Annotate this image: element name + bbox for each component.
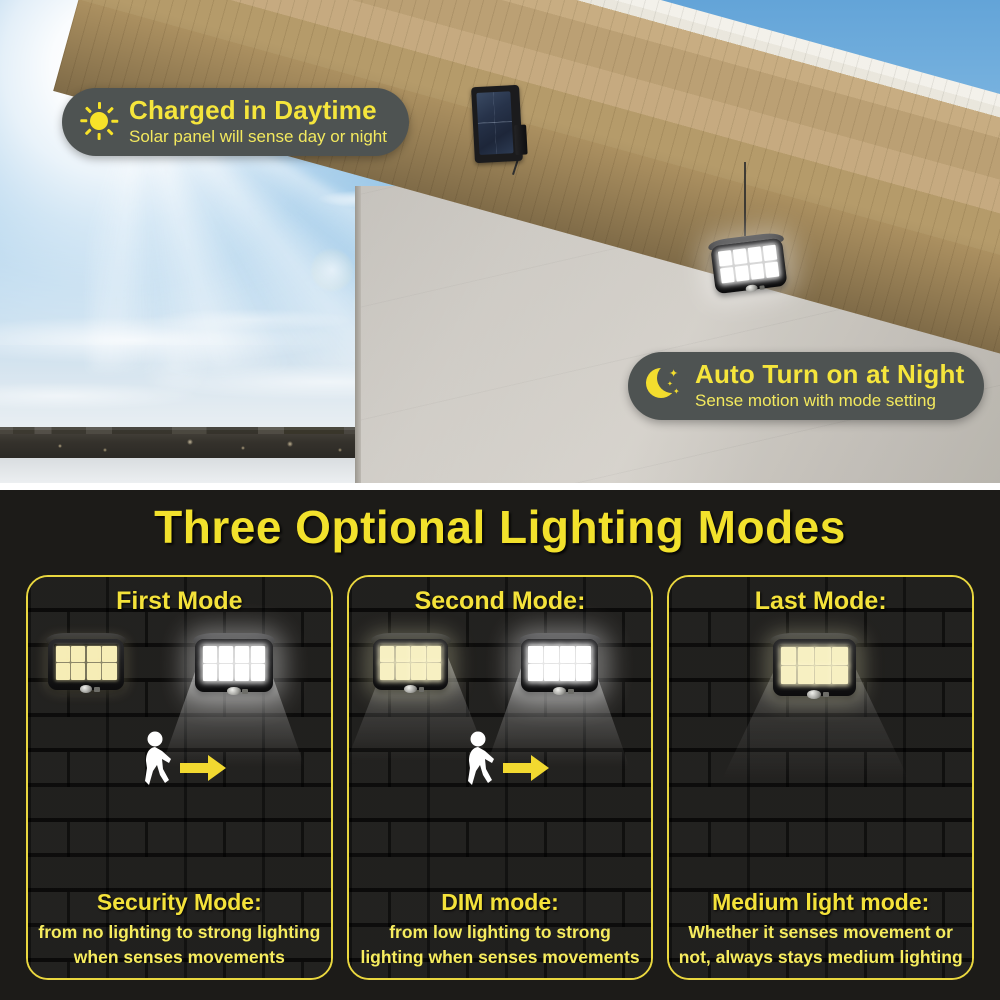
led-cell — [396, 646, 410, 662]
star-icon: ✦ — [673, 388, 680, 396]
mode-description: from low lighting to strong lighting whe… — [357, 920, 644, 970]
motion-sensor-icon — [807, 690, 821, 699]
led-cell — [56, 663, 70, 679]
mode-name: Security Mode: — [36, 889, 323, 916]
sun-ray — [111, 120, 118, 123]
mode-name: Medium light mode: — [677, 889, 964, 916]
moon-icon: ✦ ✦ ✦ — [644, 365, 684, 405]
mode-card-footer: Medium light mode: Whether it senses mov… — [669, 889, 972, 970]
led-cell — [544, 646, 559, 663]
sun-ray — [107, 129, 114, 136]
led-cell — [102, 663, 116, 679]
building-wall-edge — [355, 186, 361, 483]
led-cell — [798, 666, 814, 684]
lamp-button — [759, 285, 765, 290]
solar-panel — [471, 85, 523, 163]
lamp-led-grid — [54, 644, 118, 681]
section-title: Three Optional Lighting Modes — [0, 500, 1000, 554]
badge-title: Auto Turn on at Night — [695, 361, 964, 389]
led-cell — [56, 646, 70, 662]
led-cell — [798, 647, 814, 665]
walking-person-icon — [136, 731, 176, 789]
led-cell — [781, 666, 797, 684]
mode-name: DIM mode: — [357, 889, 644, 916]
badge-text: Auto Turn on at Night Sense motion with … — [695, 361, 964, 410]
led-cell — [544, 664, 559, 681]
section-divider — [0, 483, 1000, 490]
led-cell — [203, 646, 218, 663]
sun-ray — [80, 120, 87, 123]
motion-sensor-icon — [745, 284, 758, 293]
led-cell — [749, 263, 764, 280]
badge-subtitle: Solar panel will sense day or night — [129, 128, 387, 146]
wall-mounted-led-light — [708, 232, 791, 303]
sun-ray — [85, 107, 92, 114]
led-cell — [71, 663, 85, 679]
led-cell — [576, 646, 591, 663]
led-cell — [560, 646, 575, 663]
sun-icon — [80, 102, 118, 140]
led-cell — [733, 248, 748, 265]
led-cell — [560, 664, 575, 681]
direction-arrow-icon — [503, 755, 549, 781]
led-lamp-right — [193, 633, 275, 701]
sun-core — [90, 112, 108, 130]
led-cell — [251, 646, 266, 663]
led-cell — [219, 646, 234, 663]
led-light-cable — [744, 162, 746, 236]
sun-ray — [98, 133, 101, 140]
led-lamp-right — [519, 633, 601, 701]
lamp-button — [419, 687, 425, 692]
led-cell — [427, 663, 441, 679]
mode-description: Whether it senses movement or not, alway… — [677, 920, 964, 970]
led-cell — [102, 646, 116, 662]
mode-card-illustration — [349, 623, 652, 823]
modes-section: Three Optional Lighting Modes First Mode — [0, 490, 1000, 1000]
mode-card-title: Second Mode: — [349, 587, 652, 616]
solar-panel-cells — [476, 91, 513, 155]
led-cell — [832, 666, 848, 684]
motion-sensor-icon — [404, 685, 417, 693]
mode-card-second: Second Mode: — [347, 575, 654, 980]
lamp-led-grid — [527, 645, 593, 683]
lamp-button — [823, 692, 829, 697]
led-cell — [781, 647, 797, 665]
badge-title: Charged in Daytime — [129, 97, 387, 125]
mode-card-title: Last Mode: — [669, 587, 972, 616]
mode-card-last: Last Mode: — [667, 575, 974, 980]
led-lamp-left — [46, 633, 126, 699]
mode-card-first: First Mode — [26, 575, 333, 980]
sun-ray — [98, 102, 101, 109]
lamp-led-grid — [779, 645, 849, 685]
star-icon: ✦ — [669, 369, 678, 380]
led-lamp-center — [770, 633, 858, 705]
led-cell — [235, 664, 250, 681]
led-cell — [762, 245, 777, 262]
led-cell — [747, 246, 762, 263]
motion-sensor-icon — [227, 687, 240, 695]
lamp-button — [242, 689, 248, 694]
led-cell — [380, 663, 394, 679]
badge-auto-turn-on-at-night: ✦ ✦ ✦ Auto Turn on at Night Sense motion… — [628, 352, 984, 420]
star-icon: ✦ — [667, 381, 673, 388]
lamp-button — [94, 687, 100, 692]
led-cell — [219, 664, 234, 681]
mode-cards: First Mode — [26, 575, 974, 980]
badge-text: Charged in Daytime Solar panel will sens… — [129, 97, 387, 146]
led-cell — [251, 664, 266, 681]
hero-photo: Charged in Daytime Solar panel will sens… — [0, 0, 1000, 483]
led-cell — [720, 267, 735, 284]
led-cell — [380, 646, 394, 662]
motion-sensor-icon — [80, 685, 93, 693]
mode-card-illustration — [28, 623, 331, 823]
led-cell — [815, 647, 831, 665]
led-cell — [203, 664, 218, 681]
lamp-button — [568, 689, 574, 694]
mode-card-title: First Mode — [28, 587, 331, 616]
led-cell — [815, 666, 831, 684]
led-cell — [71, 646, 85, 662]
led-cell — [87, 663, 101, 679]
led-cell — [87, 646, 101, 662]
led-cell — [576, 664, 591, 681]
led-cell — [528, 664, 543, 681]
mode-card-footer: DIM mode: from low lighting to strong li… — [349, 889, 652, 970]
sun-ray — [107, 107, 114, 114]
direction-arrow-icon — [180, 755, 226, 781]
product-infographic: Charged in Daytime Solar panel will sens… — [0, 0, 1000, 1000]
mode-card-footer: Security Mode: from no lighting to stron… — [28, 889, 331, 970]
walking-person-icon — [459, 731, 499, 789]
mode-description: from no lighting to strong lighting when… — [36, 920, 323, 970]
badge-subtitle: Sense motion with mode setting — [695, 392, 964, 410]
led-cell — [411, 646, 425, 662]
solar-panel-mount-arm — [514, 124, 528, 155]
led-cell — [718, 250, 733, 267]
motion-sensor-icon — [553, 687, 566, 695]
led-cell — [235, 646, 250, 663]
badge-charged-in-daytime: Charged in Daytime Solar panel will sens… — [62, 88, 409, 156]
sun-ray — [85, 129, 92, 136]
led-cell — [396, 663, 410, 679]
mode-card-illustration — [669, 623, 972, 823]
led-cell — [411, 663, 425, 679]
led-cell — [528, 646, 543, 663]
led-cell — [735, 265, 750, 282]
lamp-led-grid — [379, 644, 443, 681]
led-lamp-left — [371, 633, 451, 699]
led-cell — [427, 646, 441, 662]
led-cell — [832, 647, 848, 665]
led-cell — [764, 261, 779, 278]
lamp-led-grid — [201, 645, 267, 683]
